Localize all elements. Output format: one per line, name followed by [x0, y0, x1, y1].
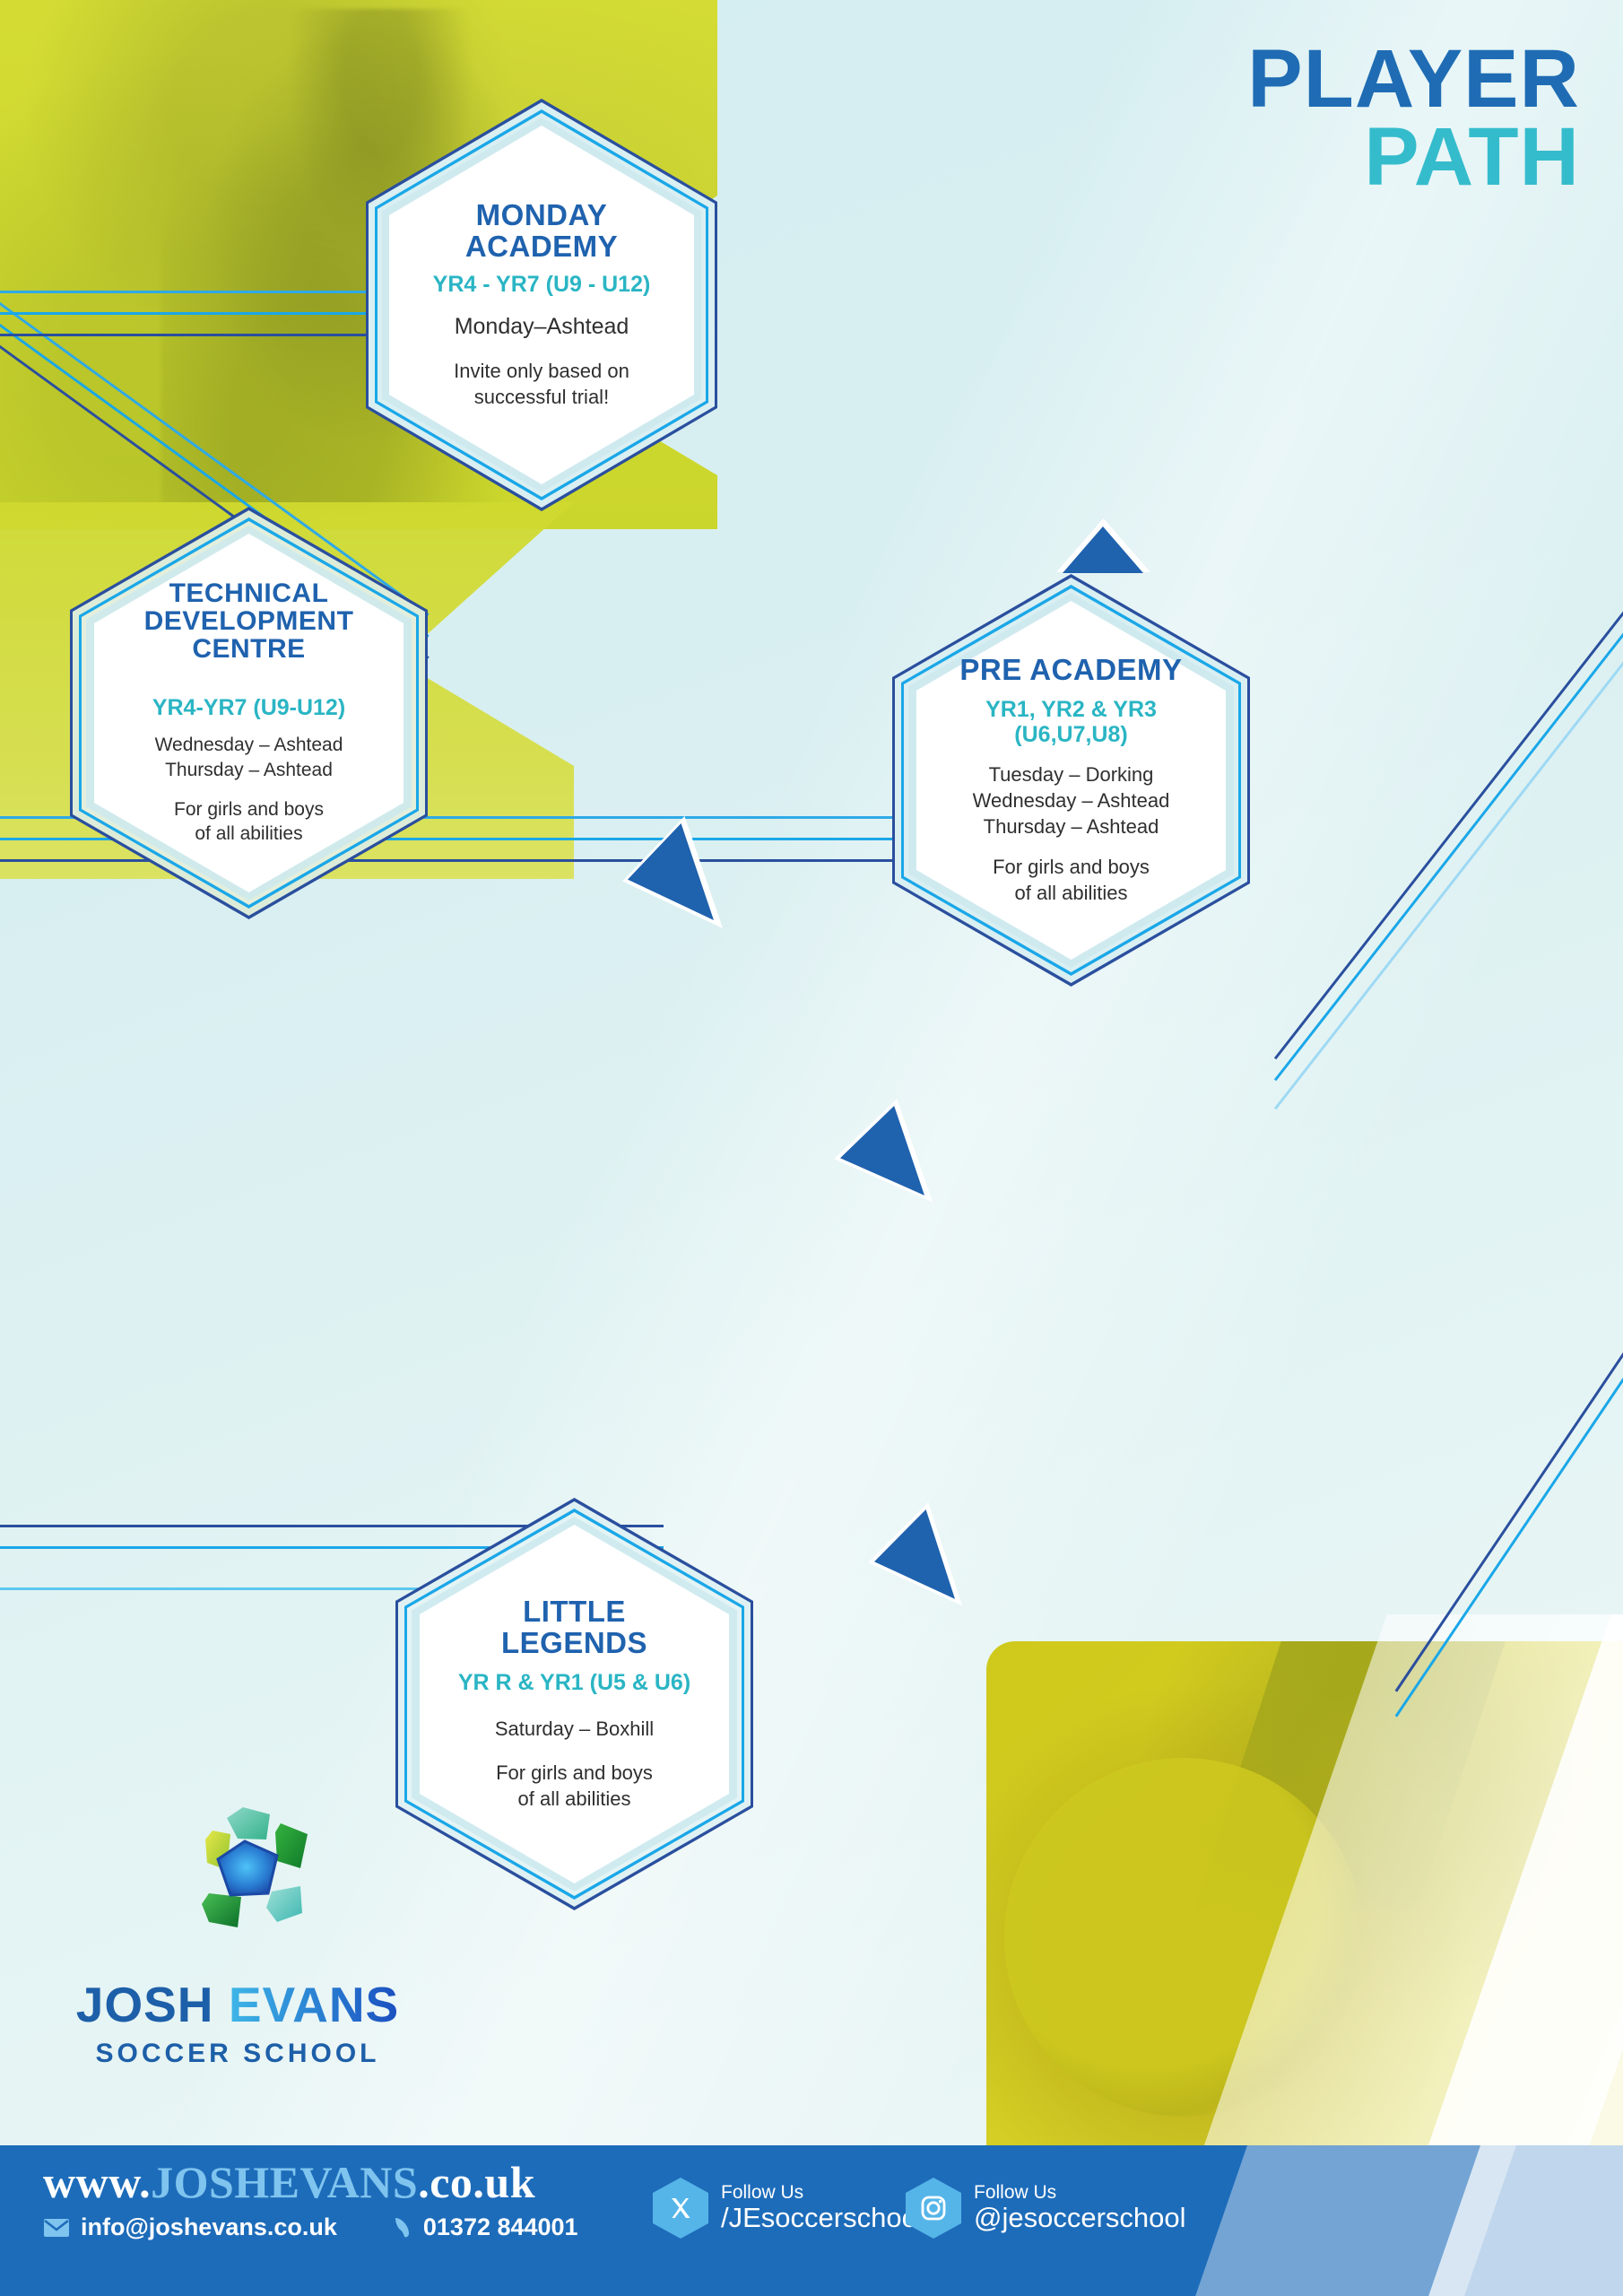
card-note: For girls and boys of all abilities	[496, 1760, 653, 1812]
instagram-follow-label: Follow Us	[974, 2182, 1186, 2204]
card-content: LITTLE LEGENDS YR R & YR1 (U5 & U6) Satu…	[420, 1525, 729, 1883]
email-text: info@joshevans.co.uk	[81, 2213, 337, 2241]
logo-wordmark: JOSH EVANS	[31, 1976, 444, 2033]
card-title: PRE ACADEMY	[959, 655, 1182, 685]
card-age-range: YR4 - YR7 (U9 - U12)	[433, 273, 651, 298]
url-brand: JOSHEVANS	[151, 2157, 418, 2207]
card-schedule: Tuesday – Dorking Wednesday – Ashtead Th…	[973, 761, 1170, 839]
card-age-range: YR4-YR7 (U9-U12)	[152, 696, 345, 721]
instagram-handle: @jesoccerschool	[974, 2203, 1186, 2234]
card-little-legends[interactable]: LITTLE LEGENDS YR R & YR1 (U5 & U6) Satu…	[420, 1525, 729, 1883]
social-x[interactable]: Follow Us /JEsoccerschool	[653, 2178, 924, 2239]
card-note: Invite only based on successful trial!	[454, 358, 629, 410]
footer-bar: www.JOSHEVANS.co.uk info@joshevans.co.uk…	[0, 2145, 1623, 2296]
x-handle: /JEsoccerschool	[721, 2203, 924, 2234]
poster-canvas: PLAYER PATH MONDAY ACADEMY YR4 - YR7 (U9…	[0, 0, 1623, 2296]
card-note: For girls and boys of all abilities	[993, 854, 1150, 906]
envelope-icon	[43, 2218, 70, 2238]
card-content: TECHNICAL DEVELOPMENT CENTRE YR4-YR7 (U9…	[94, 534, 404, 892]
card-note: For girls and boys of all abilities	[174, 797, 324, 847]
card-title: LITTLE LEGENDS	[501, 1596, 647, 1658]
website-url[interactable]: www.JOSHEVANS.co.uk	[43, 2156, 535, 2208]
logo-subtitle: SOCCER SCHOOL	[31, 2039, 444, 2069]
title-line-path: PATH	[1247, 118, 1580, 196]
card-content: MONDAY ACADEMY YR4 - YR7 (U9 - U12) Mond…	[389, 126, 694, 484]
card-schedule: Monday–Ashtead	[455, 312, 629, 342]
card-schedule: Saturday – Boxhill	[495, 1716, 654, 1742]
x-labels: Follow Us /JEsoccerschool	[721, 2182, 924, 2234]
brand-logo: JOSH EVANS SOCCER SCHOOL	[31, 1780, 444, 2117]
card-schedule: Wednesday – Ashtead Thursday – Ashtead	[155, 733, 343, 782]
card-content: PRE ACADEMY YR1, YR2 & YR3 (U6,U7,U8) Tu…	[916, 601, 1226, 960]
instagram-icon	[906, 2178, 961, 2239]
card-age-range: YR1, YR2 & YR3 (U6,U7,U8)	[929, 698, 1213, 747]
social-instagram[interactable]: Follow Us @jesoccerschool	[906, 2178, 1186, 2239]
url-suffix: .co.uk	[418, 2157, 535, 2207]
phone-item[interactable]: 01372 844001	[391, 2213, 578, 2241]
title-line-player: PLAYER	[1247, 40, 1580, 118]
instagram-labels: Follow Us @jesoccerschool	[974, 2182, 1186, 2234]
email-item[interactable]: info@joshevans.co.uk	[43, 2213, 337, 2241]
poster-title: PLAYER PATH	[1247, 40, 1580, 197]
footer-contact-row: info@joshevans.co.uk 01372 844001	[43, 2213, 578, 2241]
url-prefix: www.	[43, 2157, 151, 2207]
x-follow-label: Follow Us	[721, 2182, 924, 2204]
card-title: TECHNICAL DEVELOPMENT CENTRE	[144, 579, 354, 664]
x-icon	[653, 2178, 708, 2239]
logo-word-evans: EVANS	[229, 1977, 399, 2032]
card-pre-academy[interactable]: PRE ACADEMY YR1, YR2 & YR3 (U6,U7,U8) Tu…	[916, 601, 1226, 960]
logo-word-josh: JOSH	[76, 1977, 229, 2032]
phone-icon	[391, 2216, 412, 2239]
soccer-ball-icon	[166, 1796, 323, 1953]
card-technical-development-centre[interactable]: TECHNICAL DEVELOPMENT CENTRE YR4-YR7 (U9…	[94, 534, 404, 892]
phone-text: 01372 844001	[423, 2213, 578, 2241]
card-title: MONDAY ACADEMY	[465, 200, 618, 262]
card-age-range: YR R & YR1 (U5 & U6)	[458, 1671, 690, 1696]
card-monday-academy[interactable]: MONDAY ACADEMY YR4 - YR7 (U9 - U12) Mond…	[389, 126, 694, 484]
